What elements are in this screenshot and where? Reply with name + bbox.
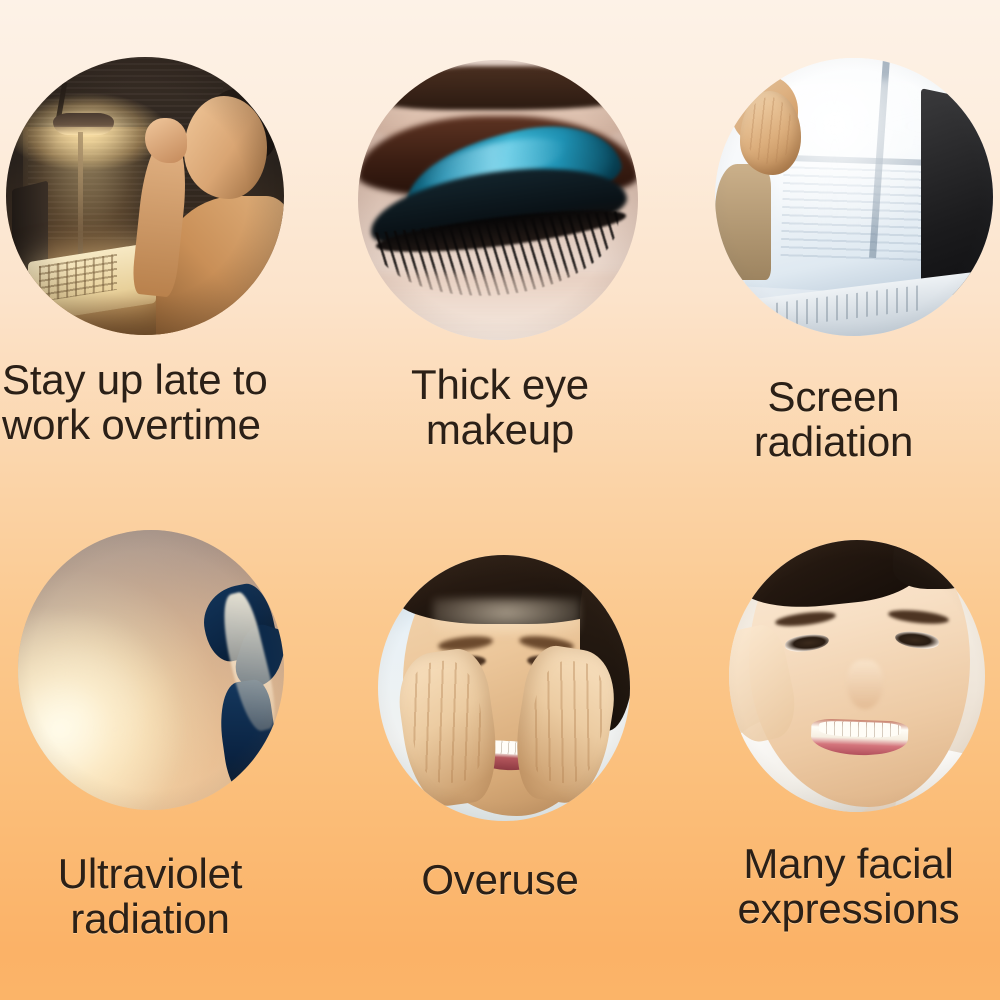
photo-ultraviolet-radiation	[18, 530, 284, 810]
caption-stay-up-late: Stay up late to work overtime	[2, 358, 332, 447]
caption-overuse: Overuse	[333, 858, 667, 903]
cause-item-many-facial-expressions: Many facial expressions	[667, 500, 1000, 1000]
cause-item-ultraviolet-radiation: Ultraviolet radiation	[0, 500, 333, 1000]
cause-item-stay-up-late: Stay up late to work overtime	[0, 0, 333, 500]
photo-screen-radiation	[715, 58, 993, 336]
photo-many-facial-expressions	[729, 540, 985, 812]
cause-item-screen-radiation: Screen radiation	[667, 0, 1000, 500]
eye-strain-causes-poster: Stay up late to work overtime Thick eye …	[0, 0, 1000, 1000]
photo-thick-eye-makeup	[358, 60, 638, 340]
cause-item-thick-eye-makeup: Thick eye makeup	[333, 0, 667, 500]
cause-item-overuse: Overuse	[333, 500, 667, 1000]
photo-overuse	[378, 555, 630, 821]
photo-stay-up-late	[6, 57, 284, 335]
caption-many-facial-expressions: Many facial expressions	[697, 842, 1000, 931]
caption-screen-radiation: Screen radiation	[667, 375, 1000, 464]
caption-ultraviolet-radiation: Ultraviolet radiation	[0, 852, 300, 941]
caption-thick-eye-makeup: Thick eye makeup	[333, 363, 667, 452]
